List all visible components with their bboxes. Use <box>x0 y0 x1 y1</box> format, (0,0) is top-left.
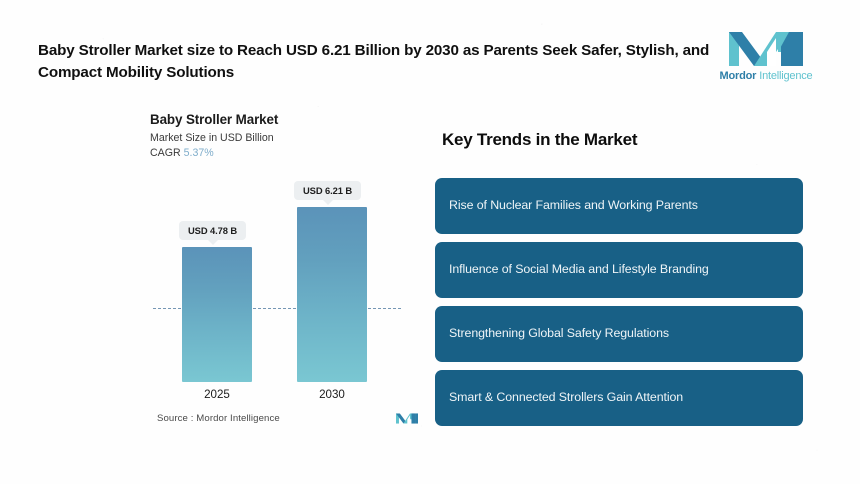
trend-card-1[interactable]: Rise of Nuclear Families and Working Par… <box>435 178 803 234</box>
bar-2030[interactable] <box>297 207 367 382</box>
bar-value-label-2030: USD 6.21 B <box>294 181 361 200</box>
chart-source-row: Source : Mordor Intelligence <box>157 412 418 425</box>
key-trends-heading: Key Trends in the Market <box>442 130 637 150</box>
cagr-value: 5.37% <box>184 147 214 159</box>
chart-plot-area: USD 4.78 B USD 6.21 B 2025 2030 <box>150 174 418 382</box>
trend-card-label: Strengthening Global Safety Regulations <box>449 326 669 342</box>
chart-subtitle: Market Size in USD Billion <box>150 132 418 144</box>
key-trends-list: Rise of Nuclear Families and Working Par… <box>435 178 803 426</box>
mordor-m-logo-icon-small <box>396 412 418 425</box>
brand-name-primary: Mordor <box>720 71 757 82</box>
trend-card-2[interactable]: Influence of Social Media and Lifestyle … <box>435 242 803 298</box>
infographic-page: Baby Stroller Market size to Reach USD 6… <box>0 0 860 484</box>
trend-card-4[interactable]: Smart & Connected Strollers Gain Attenti… <box>435 370 803 426</box>
x-axis-tick-2030: 2030 <box>297 388 367 401</box>
bar-value-label-2025: USD 4.78 B <box>179 221 246 240</box>
mordor-m-logo-icon <box>729 30 803 68</box>
brand-name-secondary: Intelligence <box>759 71 812 82</box>
trend-card-label: Rise of Nuclear Families and Working Par… <box>449 198 698 214</box>
cagr-label: CAGR <box>150 147 181 159</box>
trend-card-label: Smart & Connected Strollers Gain Attenti… <box>449 390 683 406</box>
mordor-intelligence-logo: Mordor Intelligence <box>702 30 830 88</box>
market-size-chart: Baby Stroller Market Market Size in USD … <box>150 112 418 434</box>
source-label: Source : Mordor Intelligence <box>157 413 280 424</box>
chart-title: Baby Stroller Market <box>150 112 418 127</box>
trend-card-label: Influence of Social Media and Lifestyle … <box>449 262 709 278</box>
x-axis-tick-2025: 2025 <box>182 388 252 401</box>
chart-cagr: CAGR5.37% <box>150 147 418 159</box>
page-title: Baby Stroller Market size to Reach USD 6… <box>38 40 718 83</box>
brand-wordmark: Mordor Intelligence <box>702 71 830 82</box>
bar-2025[interactable] <box>182 247 252 382</box>
trend-card-3[interactable]: Strengthening Global Safety Regulations <box>435 306 803 362</box>
